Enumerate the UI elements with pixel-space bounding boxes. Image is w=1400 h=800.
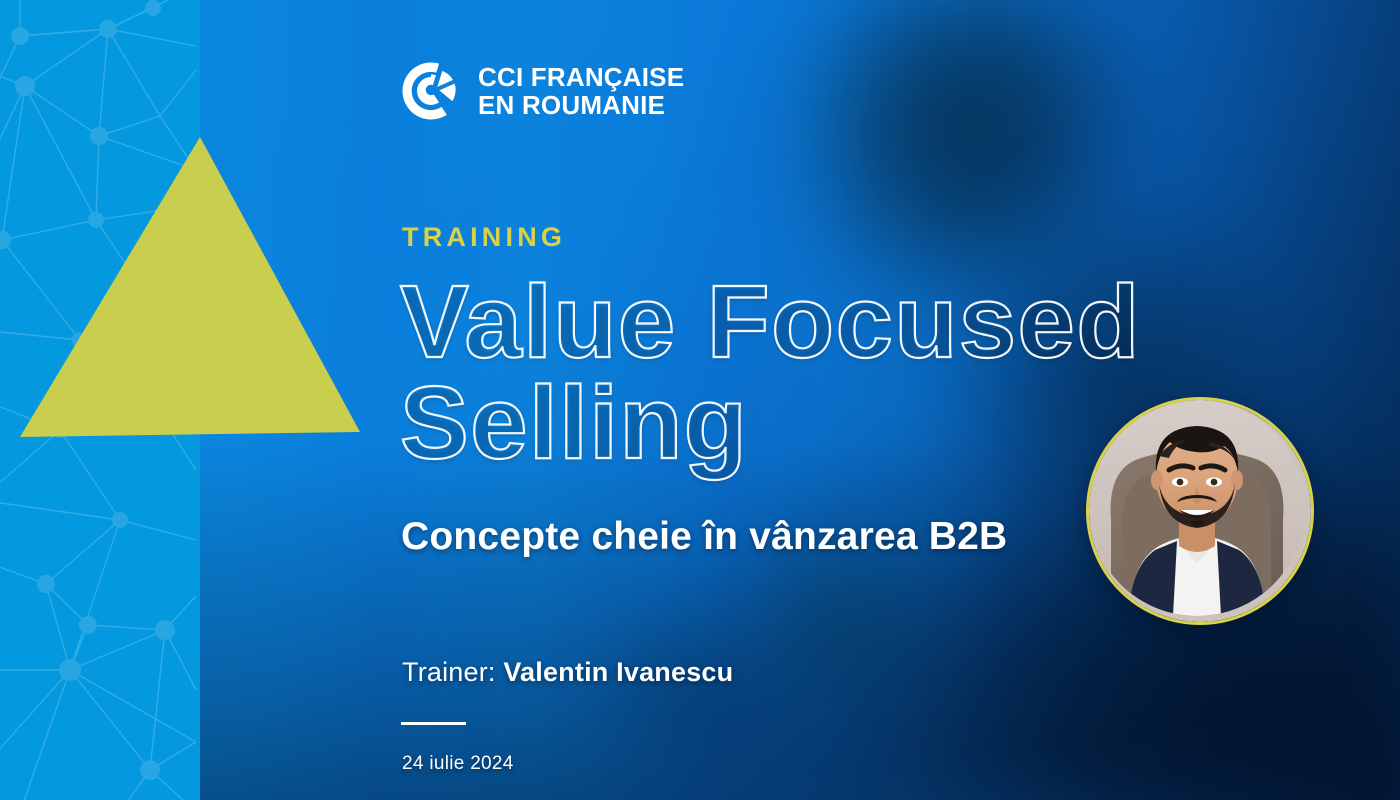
left-decorative-panel (0, 0, 200, 800)
avatar (1086, 397, 1314, 625)
trainer-name: Valentin Ivanescu (503, 657, 733, 687)
subtitle: Concepte cheie în vânzarea B2B (401, 515, 1007, 559)
eyebrow-label: TRAINING (402, 222, 566, 253)
cci-circular-mark-icon (400, 60, 462, 122)
event-date: 24 iulie 2024 (402, 753, 514, 775)
avatar-image (1089, 400, 1311, 622)
trainer-line: Trainer: Valentin Ivanescu (402, 657, 733, 688)
brand-logo-text: CCI FRANÇAISE EN ROUMANIE (478, 63, 684, 119)
trainer-label: Trainer: (402, 657, 496, 687)
training-banner: CCI FRANÇAISE EN ROUMANIE TRAINING Value… (0, 0, 1400, 800)
content-column: CCI FRANÇAISE EN ROUMANIE TRAINING Value… (400, 0, 1400, 800)
trainer-portrait-icon (1089, 400, 1305, 616)
network-mesh-pattern-icon (0, 0, 200, 800)
brand-logo: CCI FRANÇAISE EN ROUMANIE (400, 60, 684, 122)
divider-rule (401, 722, 466, 725)
